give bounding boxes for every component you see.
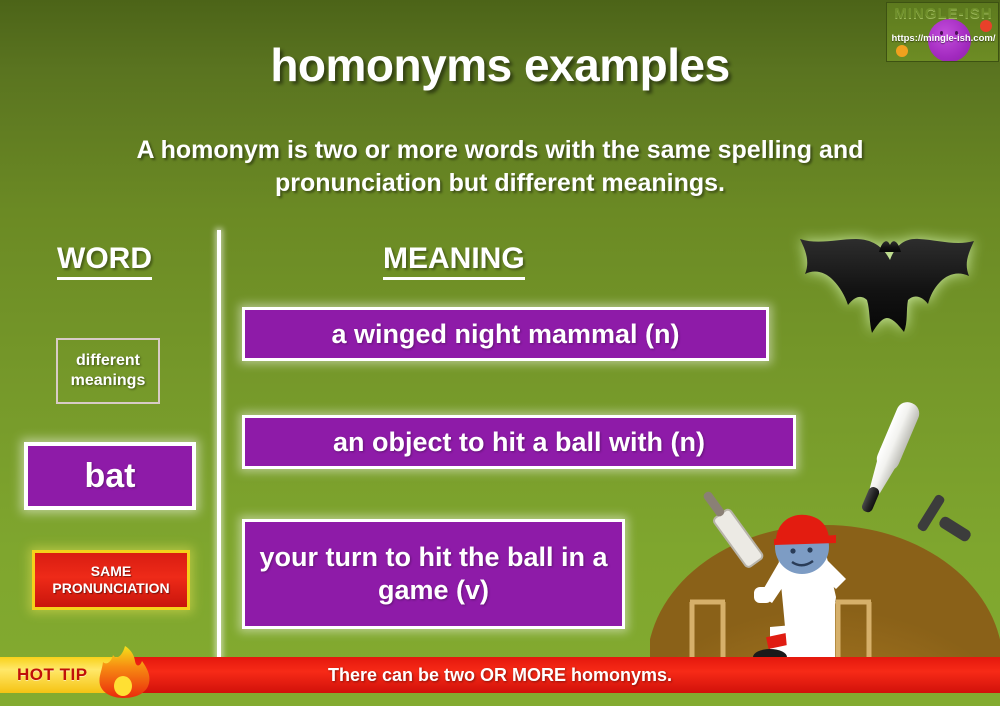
meaning-card: a winged night mammal (n) [242, 307, 769, 361]
page-subtitle: A homonym is two or more words with the … [80, 134, 920, 200]
column-header-meaning: MEANING [383, 242, 525, 280]
meaning-card: an object to hit a ball with (n) [242, 415, 796, 469]
column-divider [217, 230, 221, 658]
same-pronunciation-callout: SAME PRONUNCIATION [32, 550, 190, 610]
different-meanings-callout: different meanings [56, 338, 160, 404]
flame-icon [98, 646, 152, 698]
logo-dot-red-icon [980, 20, 992, 32]
bat-silhouette-icon [788, 238, 993, 363]
homonyms-infographic: MINGLE-ISH https://mingle-ish.com/ homon… [0, 0, 1000, 706]
meaning-card: your turn to hit the ball in a game (v) [242, 519, 625, 629]
column-header-word: WORD [57, 242, 152, 280]
cricket-batsman-illustration [650, 487, 1000, 659]
word-card-bat: bat [24, 442, 196, 510]
footer-tip-text: There can be two OR MORE homonyms. [328, 665, 672, 686]
page-title: homonyms examples [0, 38, 1000, 92]
